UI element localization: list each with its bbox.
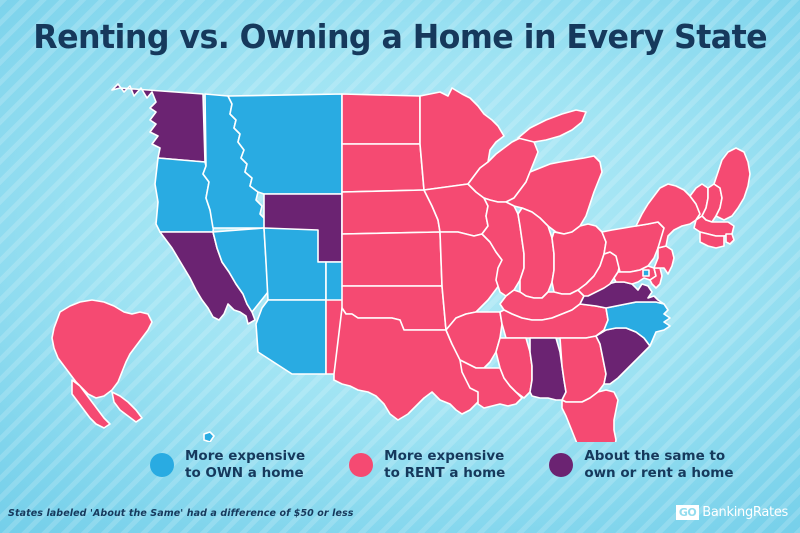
logo-go-mark: GO: [676, 505, 699, 520]
logo-wordmark: BankingRates: [702, 505, 788, 520]
circle-pink-icon: [349, 453, 373, 477]
title-bar: Renting vs. Owning a Home in Every State: [0, 8, 800, 64]
state-KS[interactable]: [342, 232, 442, 286]
state-AK[interactable]: [52, 300, 152, 428]
state-SD[interactable]: [342, 144, 424, 192]
legend-label-rent: More expensive to RENT a home: [384, 448, 505, 481]
legend-item-own[interactable]: More expensive to OWN a home: [150, 448, 305, 481]
infographic-root: Renting vs. Owning a Home in Every State: [0, 0, 800, 533]
legend-item-rent[interactable]: More expensive to RENT a home: [349, 448, 505, 481]
state-AZ[interactable]: [256, 300, 326, 374]
legend-label-same: About the same to own or rent a home: [584, 448, 733, 481]
legend-label-own: More expensive to OWN a home: [185, 448, 305, 481]
state-UT[interactable]: [264, 228, 326, 300]
gobankingrates-logo[interactable]: GO BankingRates: [676, 505, 788, 520]
legend-item-same[interactable]: About the same to own or rent a home: [549, 448, 733, 481]
state-ND[interactable]: [342, 94, 420, 144]
us-map-svg: [0, 62, 800, 442]
state-NE[interactable]: [342, 190, 440, 234]
state-HI[interactable]: [204, 432, 276, 442]
page-title: Renting vs. Owning a Home in Every State: [33, 17, 767, 56]
state-RI[interactable]: [726, 234, 734, 244]
circle-blue-icon: [150, 453, 174, 477]
state-DC[interactable]: [643, 270, 649, 276]
footnote: States labeled 'About the Same' had a di…: [8, 508, 354, 519]
us-choropleth-map: [0, 62, 800, 442]
circle-purple-icon: [549, 453, 573, 477]
state-WA[interactable]: [112, 84, 205, 162]
states-layer: [52, 84, 750, 442]
state-ME[interactable]: [714, 148, 750, 220]
map-legend: More expensive to OWN a home More expens…: [150, 448, 790, 494]
